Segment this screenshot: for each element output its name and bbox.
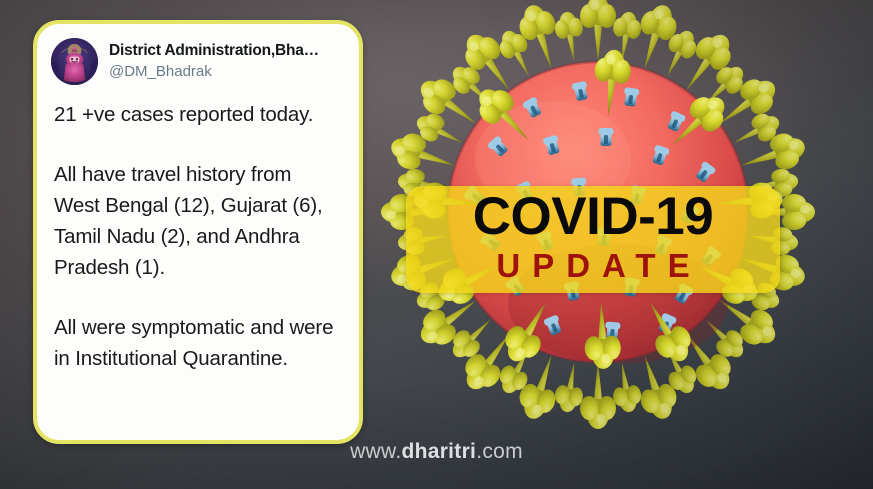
tweet-handle[interactable]: @DM_Bhadrak <box>109 62 319 82</box>
watermark-prefix: www. <box>350 440 401 463</box>
tweet-header: District Administration,Bha… @DM_Bhadrak <box>37 24 359 85</box>
tweet-paragraph: All have travel history from West Bengal… <box>54 159 342 283</box>
tweet-card: District Administration,Bha… @DM_Bhadrak… <box>33 20 363 444</box>
watermark-suffix: .com <box>476 440 523 463</box>
tweet-display-name[interactable]: District Administration,Bha… <box>109 41 319 60</box>
tweet-account-names: District Administration,Bha… @DM_Bhadrak <box>109 41 319 82</box>
tweet-paragraph: 21 +ve cases reported today. <box>54 99 342 130</box>
banner-subtitle: UPDATE <box>406 247 780 285</box>
covid-update-graphic: COVID-19 UPDATE www.dharitri.com <box>0 0 873 489</box>
avatar[interactable] <box>51 38 98 85</box>
watermark-brand: dharitri <box>401 440 476 463</box>
tweet-body: 21 +ve cases reported today. All have tr… <box>37 85 359 374</box>
banner-title: COVID-19 <box>406 187 780 246</box>
covid-update-banner: COVID-19 UPDATE <box>406 186 780 293</box>
tweet-paragraph: All were symptomatic and were in Institu… <box>54 312 342 374</box>
